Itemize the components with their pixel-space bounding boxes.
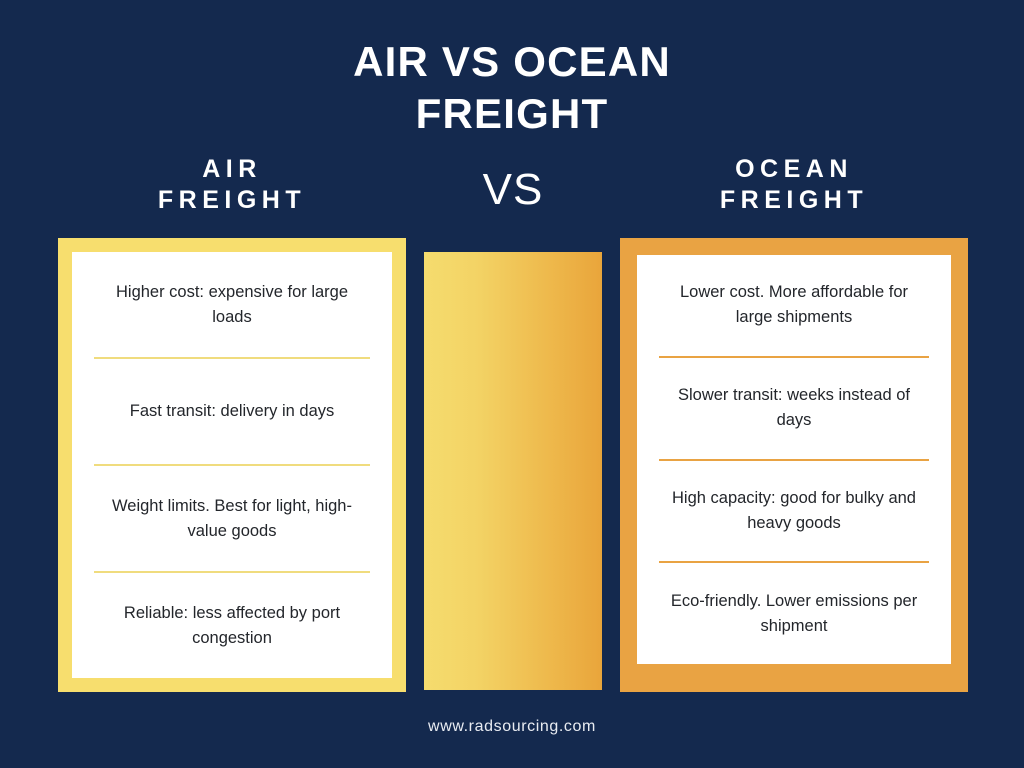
page-title-line-1: AIR VS OCEAN — [0, 36, 1024, 88]
air-freight-heading-line-1: AIR — [58, 154, 406, 185]
air-freight-heading-line-2: FREIGHT — [58, 185, 406, 216]
ocean-feature-item: Slower transit: weeks instead of days — [659, 356, 929, 459]
page-title-line-2: FREIGHT — [0, 88, 1024, 140]
footer-website-url: www.radsourcing.com — [0, 718, 1024, 736]
ocean-feature-item: Eco-friendly. Lower emissions per shipme… — [659, 561, 929, 664]
ocean-freight-card-inner: Lower cost. More affordable for large sh… — [637, 255, 951, 664]
air-freight-card: Higher cost: expensive for large loads F… — [58, 238, 406, 692]
ocean-feature-item: High capacity: good for bulky and heavy … — [659, 459, 929, 562]
center-gradient-panel — [424, 252, 602, 690]
air-feature-item: Reliable: less affected by port congesti… — [94, 571, 370, 678]
ocean-freight-heading-line-2: FREIGHT — [620, 185, 968, 216]
ocean-freight-heading-line-1: OCEAN — [620, 154, 968, 185]
air-freight-heading: AIR FREIGHT — [58, 154, 406, 216]
air-feature-item: Higher cost: expensive for large loads — [94, 252, 370, 357]
air-freight-card-inner: Higher cost: expensive for large loads F… — [72, 252, 392, 678]
ocean-freight-heading: OCEAN FREIGHT — [620, 154, 968, 216]
ocean-freight-card: Lower cost. More affordable for large sh… — [620, 238, 968, 692]
versus-label: VS — [424, 164, 602, 216]
air-feature-item: Fast transit: delivery in days — [94, 357, 370, 464]
ocean-feature-item: Lower cost. More affordable for large sh… — [659, 255, 929, 356]
air-feature-item: Weight limits. Best for light, high-valu… — [94, 464, 370, 571]
page-title: AIR VS OCEAN FREIGHT — [0, 36, 1024, 140]
